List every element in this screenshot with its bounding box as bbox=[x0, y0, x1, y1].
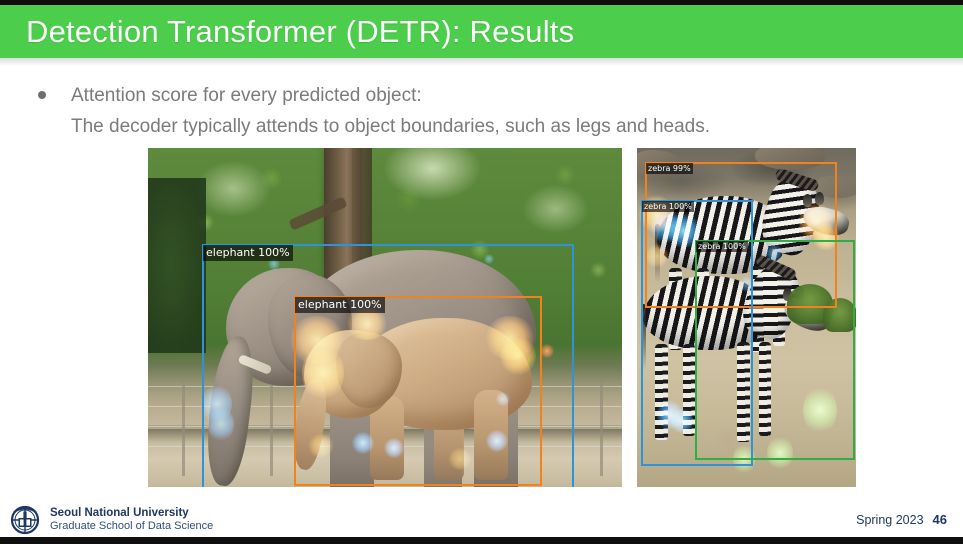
bullet-line-1: Attention score for every predicted obje… bbox=[71, 80, 710, 111]
footer-term: Spring 2023 bbox=[856, 513, 923, 527]
elephant-attention-figure: elephant 100% elephant 100% bbox=[148, 148, 622, 487]
page-number: 46 bbox=[933, 512, 947, 527]
bullet-block: Attention score for every predicted obje… bbox=[38, 80, 678, 142]
page-title: Detection Transformer (DETR): Results bbox=[26, 14, 574, 50]
bounding-box-label: elephant 100% bbox=[295, 297, 385, 313]
zebra-attention-figure: zebra 99% zebra 100% zebra 100% bbox=[637, 148, 856, 487]
footer-institution: Seoul National University bbox=[50, 506, 213, 520]
zebra-photo: zebra 99% zebra 100% zebra 100% bbox=[637, 148, 856, 487]
elephant-photo: elephant 100% elephant 100% bbox=[148, 148, 622, 487]
footer-meta: Spring 2023 46 bbox=[856, 512, 947, 527]
bounding-box-label: zebra 99% bbox=[646, 163, 693, 174]
bullet-body: Attention score for every predicted obje… bbox=[71, 80, 710, 142]
banner-shadow bbox=[0, 58, 963, 66]
bottom-rule bbox=[0, 537, 963, 544]
bounding-box-label: zebra 100% bbox=[642, 201, 694, 212]
bounding-box-label: zebra 100% bbox=[696, 241, 748, 252]
bounding-box-zebra-3: zebra 100% bbox=[695, 240, 855, 460]
foliage-shadow bbox=[148, 178, 206, 353]
bounding-box-label: elephant 100% bbox=[203, 245, 293, 261]
snu-emblem-icon bbox=[8, 503, 42, 537]
bounding-box-elephant-2: elephant 100% bbox=[294, 296, 542, 486]
slide-canvas: Detection Transformer (DETR): Results At… bbox=[0, 0, 963, 544]
figure-row: elephant 100% elephant 100% bbox=[148, 148, 856, 487]
title-banner: Detection Transformer (DETR): Results bbox=[0, 5, 963, 58]
bullet-dot-icon bbox=[38, 91, 46, 99]
bullet-line-2: The decoder typically attends to object … bbox=[71, 111, 710, 142]
footer-department: Graduate School of Data Science bbox=[50, 520, 213, 533]
footer-brand: Seoul National University Graduate Schoo… bbox=[8, 503, 213, 537]
